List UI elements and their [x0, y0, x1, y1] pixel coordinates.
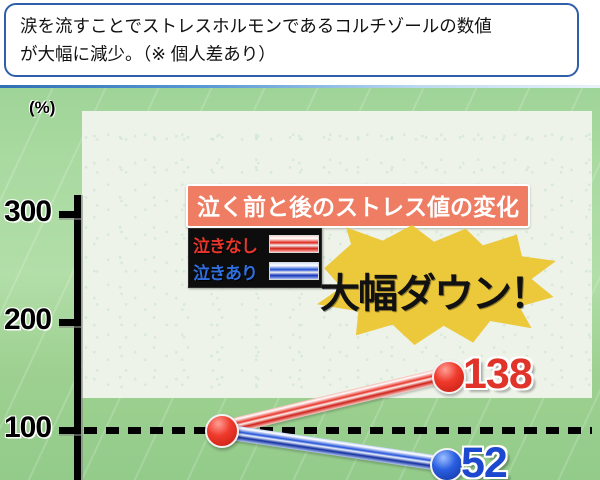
panel-top-accent-line: [0, 85, 600, 88]
legend-label-no-cry: 泣きなし: [193, 232, 269, 257]
legend-label-cry: 泣きあり: [193, 259, 269, 284]
y-axis-unit-label: (%): [29, 98, 55, 118]
legend: 泣きなし 泣きあり: [188, 228, 322, 288]
chart-panel: (%) 300 200 100 泣く前と後のストレス値の変化 泣きなし 泣きあり…: [0, 85, 600, 480]
chart-title-banner: 泣く前と後のストレス値の変化: [186, 184, 530, 228]
legend-swatch-blue: [269, 262, 319, 280]
legend-item-cry: 泣きあり: [193, 259, 319, 283]
y-axis: [74, 195, 81, 480]
starburst-annotation-text: 大幅ダウン！: [318, 261, 550, 319]
caption-box: 涙を流すことでストレスホルモンであるコルチゾールの数値 が大幅に減少。（※ 個人…: [4, 3, 579, 77]
value-label-no-cry: 138: [463, 350, 532, 399]
data-point-no-cry-after: [432, 360, 466, 394]
y-tick-100: [59, 427, 81, 434]
y-tick-200: [59, 319, 81, 326]
legend-swatch-red: [269, 235, 319, 253]
data-point-cry-after: [430, 448, 464, 480]
y-axis-label-200: 200: [4, 303, 51, 337]
data-point-baseline: [205, 414, 239, 448]
reference-line-100: [84, 427, 592, 434]
y-axis-label-300: 300: [4, 195, 51, 229]
value-label-cry: 52: [461, 439, 507, 480]
caption-text: 涙を流すことでストレスホルモンであるコルチゾールの数値 が大幅に減少。（※ 個人…: [20, 12, 568, 69]
y-axis-label-100: 100: [4, 411, 51, 445]
y-tick-300: [59, 211, 81, 218]
legend-item-no-cry: 泣きなし: [193, 232, 319, 256]
